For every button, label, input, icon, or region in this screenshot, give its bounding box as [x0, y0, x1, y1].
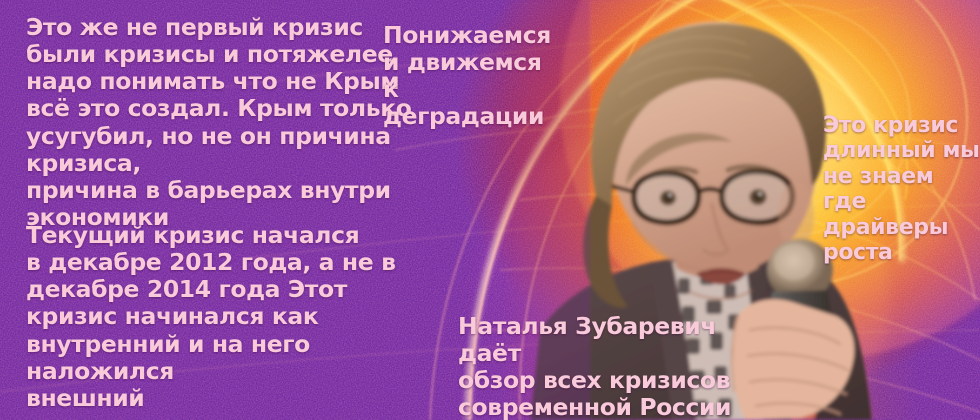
poster-image: Это же не первый кризис были кризисы и п… [0, 0, 980, 420]
quote-secondary-text: Текущий кризис начался в декабре 2012 го… [26, 222, 426, 412]
quote-top-middle-text: Понижаемся и движемся к деградации [383, 22, 553, 131]
quote-main-text: Это же не первый кризис были кризисы и п… [26, 14, 426, 231]
quote-right-text: Это кризис длинный мы не знаем где драйв… [823, 113, 980, 265]
poster-caption: Наталья Зубаревич даёт обзор всех кризис… [458, 313, 758, 420]
